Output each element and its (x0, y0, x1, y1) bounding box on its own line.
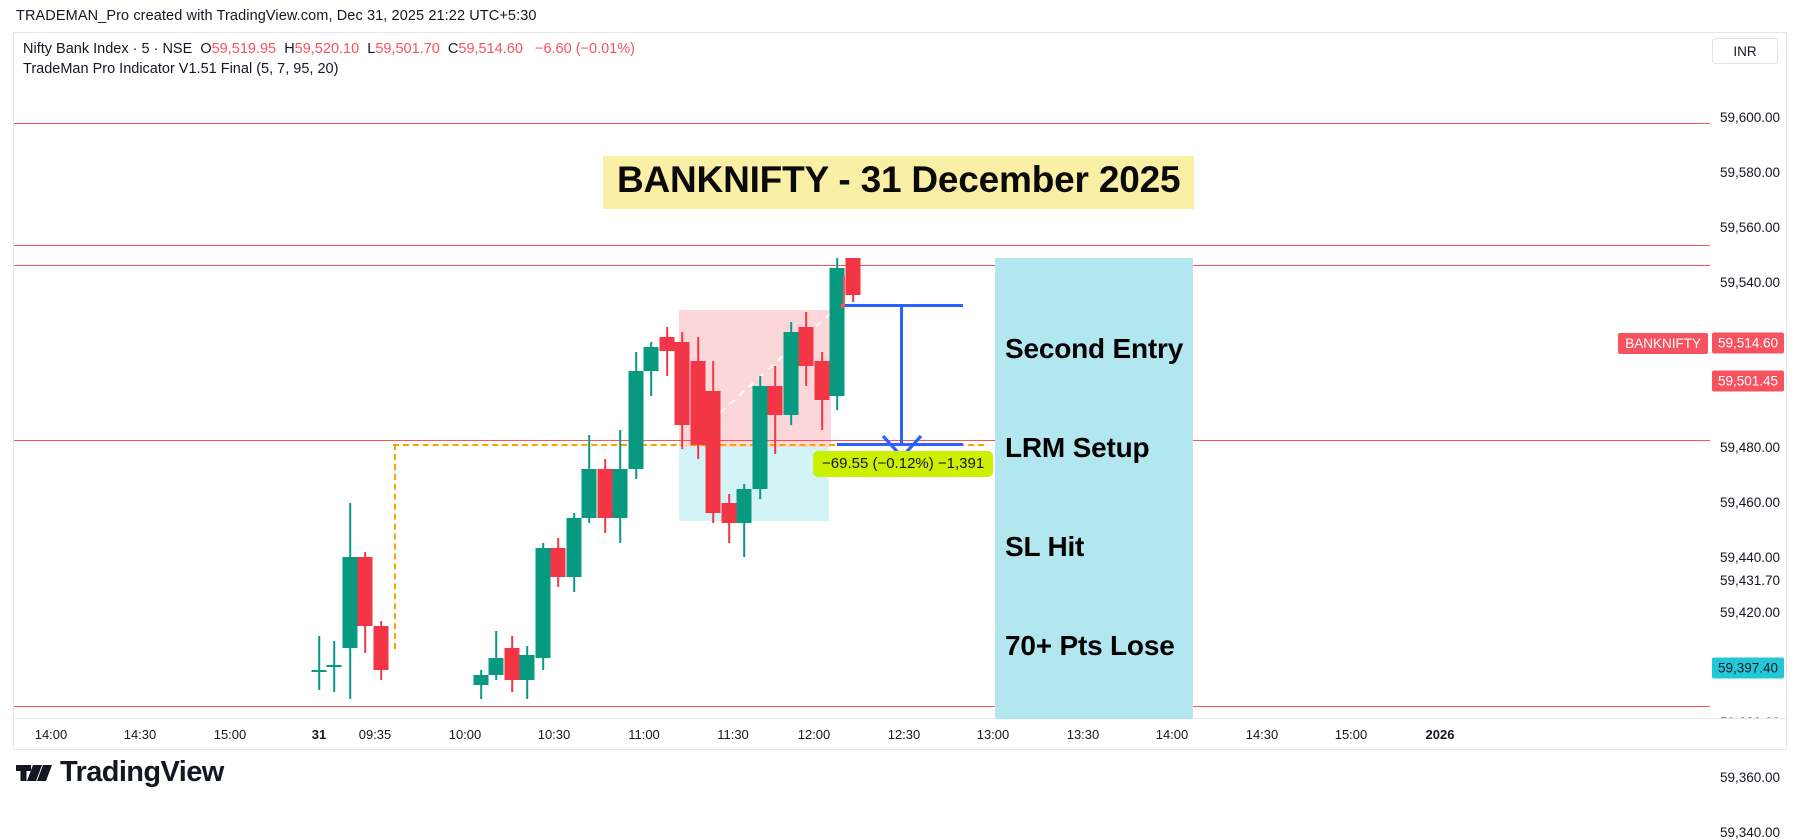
candle-body (660, 337, 675, 352)
time-tick-label: 12:00 (798, 727, 831, 742)
price-tick-label: 59,431.70 (1720, 573, 1780, 588)
candle-wick (318, 636, 320, 690)
time-tick-label: 13:00 (977, 727, 1010, 742)
price-tick-label: 59,440.00 (1720, 550, 1780, 565)
tradingview-chart-screenshot: TRADEMAN_Pro created with TradingView.co… (0, 0, 1800, 817)
candle-body (582, 469, 597, 518)
time-tick-label: 15:00 (214, 727, 247, 742)
price-tick-label: 59,420.00 (1720, 605, 1780, 620)
trade-note-line-1: Second Entry (1005, 332, 1183, 365)
candle-body (706, 391, 721, 514)
trade-direction-line (900, 304, 903, 446)
chart-frame: BANKNIFTY - 31 December 2025 Second Entr… (13, 32, 1787, 750)
candle-body (753, 386, 768, 489)
time-tick-label: 10:00 (449, 727, 482, 742)
trade-note-line-4: 70+ Pts Lose (1005, 629, 1183, 662)
tradingview-wordmark: TradingView (60, 758, 224, 787)
candle-body (474, 675, 489, 685)
candle-body (374, 626, 389, 670)
chart-title-banner: BANKNIFTY - 31 December 2025 (603, 156, 1194, 209)
tradingview-logo-icon (16, 761, 52, 785)
candle-body (489, 658, 504, 675)
candle-body (737, 489, 752, 523)
candle-body (629, 371, 644, 469)
price-badge: 59,501.45 (1712, 371, 1784, 392)
attribution-bar: TRADEMAN_Pro created with TradingView.co… (0, 0, 1800, 32)
price-tick-label: 59,580.00 (1720, 165, 1780, 180)
candlestick-series (14, 33, 1710, 719)
time-tick-label: 13:30 (1067, 727, 1100, 742)
candle-body (551, 548, 566, 577)
candle-body (768, 386, 783, 415)
candle-body (613, 469, 628, 518)
candle-body (691, 361, 706, 444)
attribution-text: TRADEMAN_Pro created with TradingView.co… (16, 8, 537, 24)
candle-body (675, 342, 690, 425)
price-tick-label: 59,600.00 (1720, 110, 1780, 125)
time-tick-label: 14:30 (124, 727, 157, 742)
entry-point-dot (841, 304, 845, 308)
price-tick-label: 59,460.00 (1720, 495, 1780, 510)
candle-body (536, 548, 551, 658)
candle-body (799, 327, 814, 366)
time-tick-label: 09:35 (359, 727, 392, 742)
price-tick-label: 59,480.00 (1720, 440, 1780, 455)
price-tick-label: 59,540.00 (1720, 275, 1780, 290)
candle-body (644, 347, 659, 372)
trade-note-line-2: LRM Setup (1005, 431, 1183, 464)
candle-body (358, 557, 373, 626)
ticker-badge: BANKNIFTY (1618, 333, 1708, 354)
currency-badge[interactable]: INR (1712, 38, 1778, 64)
trade-note-line-3: SL Hit (1005, 530, 1183, 563)
candle-wick (666, 327, 668, 376)
time-tick-label: 14:00 (35, 727, 68, 742)
candle-body (343, 557, 358, 648)
time-scale[interactable]: 14:0014:3015:003109:3510:0010:3011:0011:… (14, 718, 1786, 749)
time-tick-label: 11:30 (717, 727, 749, 742)
price-badge: 59,397.40 (1712, 658, 1784, 679)
price-tick-label: 59,360.00 (1720, 770, 1780, 785)
price-tick-label: 59,560.00 (1720, 220, 1780, 235)
candle-body (312, 670, 327, 672)
time-tick-label: 14:00 (1156, 727, 1189, 742)
time-tick-label: 12:30 (888, 727, 921, 742)
time-tick-label: 14:30 (1246, 727, 1279, 742)
time-tick-label: 11:00 (628, 727, 660, 742)
price-scale[interactable]: INR 59,600.0059,580.0059,560.0059,540.00… (1709, 33, 1786, 719)
entry-price-line[interactable] (843, 304, 963, 307)
candle-body (598, 469, 613, 518)
tradingview-footer: TradingView (16, 758, 224, 787)
chart-pane[interactable]: BANKNIFTY - 31 December 2025 Second Entr… (14, 33, 1710, 719)
candle-body (784, 332, 799, 415)
time-tick-label: 2026 (1426, 727, 1455, 742)
candle-body (815, 361, 830, 400)
candle-body (327, 665, 342, 667)
candle-body (722, 503, 737, 523)
time-tick-label: 10:30 (538, 727, 571, 742)
candle-body (505, 648, 520, 680)
candle-body (567, 518, 582, 577)
time-tick-label: 15:00 (1335, 727, 1368, 742)
time-tick-label: 31 (312, 727, 326, 742)
trade-note-box: Second Entry LRM Setup SL Hit 70+ Pts Lo… (995, 258, 1193, 719)
pnl-label: −69.55 (−0.12%) −1,391 (813, 451, 993, 477)
price-tick-label: 59,340.00 (1720, 825, 1780, 840)
price-badge: 59,514.60 (1712, 333, 1784, 354)
candle-body (520, 655, 535, 680)
candle-body (846, 258, 861, 295)
entry-connector-line (843, 276, 845, 307)
